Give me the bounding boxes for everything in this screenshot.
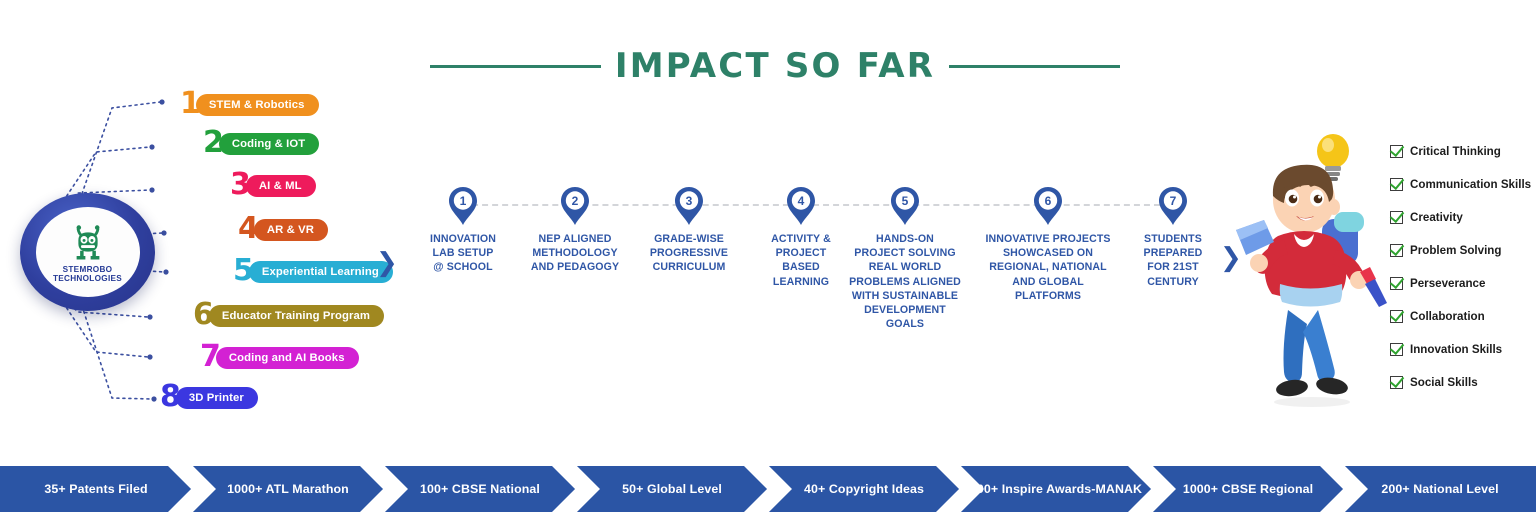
offering-label: STEM & Robotics [196, 94, 319, 116]
svg-text:3: 3 [686, 194, 693, 208]
offering-label: AI & ML [246, 175, 316, 197]
journey-step-label: INNOVATIVE PROJECTSSHOWCASED ONREGIONAL,… [985, 232, 1110, 303]
checkmark-icon [1390, 310, 1403, 323]
ribbon-segment-label: 100+ CBSE National [420, 482, 540, 496]
skill-label: Communication Skills [1410, 178, 1531, 191]
offering-item-1[interactable]: 1STEM & Robotics [180, 90, 319, 120]
journey-step-label: INNOVATIONLAB SETUP@ SCHOOL [430, 232, 496, 275]
map-pin-icon: 7 [1158, 186, 1188, 226]
checkmark-icon [1390, 343, 1403, 356]
journey-step-label: STUDENTSPREPAREDFOR 21STCENTURY [1144, 232, 1203, 289]
skill-label: Critical Thinking [1410, 145, 1501, 158]
skill-item: Communication Skills [1390, 175, 1536, 193]
svg-text:7: 7 [1170, 194, 1177, 208]
ribbon-segment-label: 1000+ CBSE Regional [1183, 482, 1313, 496]
offering-number: 1 [180, 89, 201, 119]
skill-item: Collaboration [1390, 307, 1536, 325]
title-rule-right [949, 65, 1120, 68]
offering-label: Educator Training Program [209, 305, 384, 327]
logo-text-line2: TECHNOLOGIES [53, 274, 122, 283]
logo-text: STEMROBO TECHNOLOGIES [53, 265, 122, 283]
shoes [1275, 375, 1349, 398]
map-pin-icon: 5 [890, 186, 920, 226]
offering-label: Experiential Learning [249, 261, 393, 283]
ribbon-segment-label: 50+ Global Level [622, 482, 722, 496]
skill-label: Creativity [1410, 211, 1463, 224]
offering-item-4[interactable]: 4AR & VR [238, 215, 328, 245]
skill-label: Social Skills [1410, 376, 1478, 389]
map-pin-icon: 3 [674, 186, 704, 226]
achievements-ribbon: 35+ Patents Filed1000+ ATL Marathon100+ … [0, 466, 1536, 512]
sweater [1265, 231, 1347, 307]
ribbon-segment[interactable]: 40+ Copyright Ideas [768, 466, 960, 512]
offering-number: 2 [203, 128, 224, 158]
offering-item-2[interactable]: 2Coding & IOT [203, 129, 319, 159]
robot-mascot-icon [67, 221, 109, 263]
page-title: IMPACT SO FAR [615, 46, 935, 86]
title-rule-left [430, 65, 601, 68]
journey-step-label: ACTIVITY &PROJECTBASEDLEARNING [771, 232, 831, 289]
offering-number: 3 [230, 170, 251, 200]
checkmark-icon [1390, 277, 1403, 290]
offering-label: AR & VR [254, 219, 328, 241]
ribbon-segment[interactable]: 50+ Global Level [576, 466, 768, 512]
skill-label: Collaboration [1410, 310, 1485, 323]
journey-step-label: GRADE-WISEPROGRESSIVECURRICULUM [650, 232, 728, 275]
journey-step-label: HANDS-ONPROJECT SOLVINGREAL WORLDPROBLEM… [849, 232, 961, 331]
svg-text:1: 1 [460, 194, 467, 208]
offering-item-7[interactable]: 7Coding and AI Books [200, 343, 359, 373]
ribbon-segment-label: 200+ National Level [1381, 482, 1498, 496]
map-pin-icon: 4 [786, 186, 816, 226]
offering-item-5[interactable]: 5Experiential Learning [233, 257, 393, 287]
map-pin-icon: 6 [1033, 186, 1063, 226]
checkmark-icon [1390, 376, 1403, 389]
skill-item: Critical Thinking [1390, 142, 1536, 160]
journey-step-label: NEP ALIGNEDMETHODOLOGYAND PEDAGOGY [531, 232, 619, 275]
offering-label: Coding & IOT [219, 133, 319, 155]
logo-text-line1: STEMROBO [53, 265, 122, 274]
ribbon-segment[interactable]: 1000+ ATL Marathon [192, 466, 384, 512]
ribbon-segment[interactable]: 100+ Inspire Awards-MANAK [960, 466, 1152, 512]
map-pin-icon: 1 [448, 186, 478, 226]
skill-item: Problem Solving [1390, 241, 1536, 259]
map-pin-icon: 2 [560, 186, 590, 226]
svg-text:5: 5 [902, 194, 909, 208]
checkmark-icon [1390, 244, 1403, 257]
journey-step-1[interactable]: 1INNOVATIONLAB SETUP@ SCHOOL [398, 186, 528, 275]
ribbon-segment[interactable]: 200+ National Level [1344, 466, 1536, 512]
ribbon-segment-label: 1000+ ATL Marathon [227, 482, 349, 496]
offering-label: Coding and AI Books [216, 347, 359, 369]
svg-text:4: 4 [798, 194, 805, 208]
skill-item: Perseverance [1390, 274, 1536, 292]
ribbon-segment-label: 40+ Copyright Ideas [804, 482, 924, 496]
shadow [1274, 397, 1350, 407]
company-logo: STEMROBO TECHNOLOGIES [20, 193, 155, 311]
offering-label: 3D Printer [176, 387, 258, 409]
ribbon-segment[interactable]: 100+ CBSE National [384, 466, 576, 512]
skill-label: Perseverance [1410, 277, 1485, 290]
ribbon-segment[interactable]: 1000+ CBSE Regional [1152, 466, 1344, 512]
offering-item-3[interactable]: 3AI & ML [230, 171, 316, 201]
skill-item: Social Skills [1390, 373, 1536, 391]
svg-text:2: 2 [572, 194, 579, 208]
checkmark-icon [1390, 178, 1403, 191]
offering-number: 8 [160, 382, 181, 412]
legs [1284, 310, 1335, 382]
skill-label: Problem Solving [1410, 244, 1501, 257]
student-with-lightbulb-illustration [1218, 124, 1390, 414]
journey-step-2[interactable]: 2NEP ALIGNEDMETHODOLOGYAND PEDAGOGY [510, 186, 640, 275]
ribbon-segment-label: 100+ Inspire Awards-MANAK [970, 482, 1142, 496]
logo-inner-disc: STEMROBO TECHNOLOGIES [36, 207, 140, 297]
chevron-after-offerings: ❯ [376, 250, 398, 276]
checkmark-icon [1390, 211, 1403, 224]
offering-number: 5 [233, 256, 254, 286]
offering-item-8[interactable]: 83D Printer [160, 383, 258, 413]
offering-item-6[interactable]: 6Educator Training Program [193, 301, 384, 331]
offering-number: 7 [200, 342, 221, 372]
skill-label: Innovation Skills [1410, 343, 1502, 356]
journey-step-5[interactable]: 5HANDS-ONPROJECT SOLVINGREAL WORLDPROBLE… [840, 186, 970, 331]
offering-number: 6 [193, 300, 214, 330]
journey-step-6[interactable]: 6INNOVATIVE PROJECTSSHOWCASED ONREGIONAL… [983, 186, 1113, 303]
skills-checklist: Critical ThinkingCommunication SkillsCre… [1390, 142, 1536, 406]
ribbon-segment-label: 35+ Patents Filed [44, 482, 147, 496]
page-title-banner: IMPACT SO FAR [430, 44, 1120, 88]
svg-text:6: 6 [1045, 194, 1052, 208]
infographic-canvas: IMPACT SO FAR [0, 0, 1536, 512]
skill-item: Innovation Skills [1390, 340, 1536, 358]
skill-item: Creativity [1390, 208, 1536, 226]
journey-steps: 1INNOVATIONLAB SETUP@ SCHOOL2NEP ALIGNED… [398, 186, 1218, 356]
ribbon-segment[interactable]: 35+ Patents Filed [0, 466, 192, 512]
journey-step-3[interactable]: 3GRADE-WISEPROGRESSIVECURRICULUM [624, 186, 754, 275]
checkmark-icon [1390, 145, 1403, 158]
offering-number: 4 [238, 214, 259, 244]
